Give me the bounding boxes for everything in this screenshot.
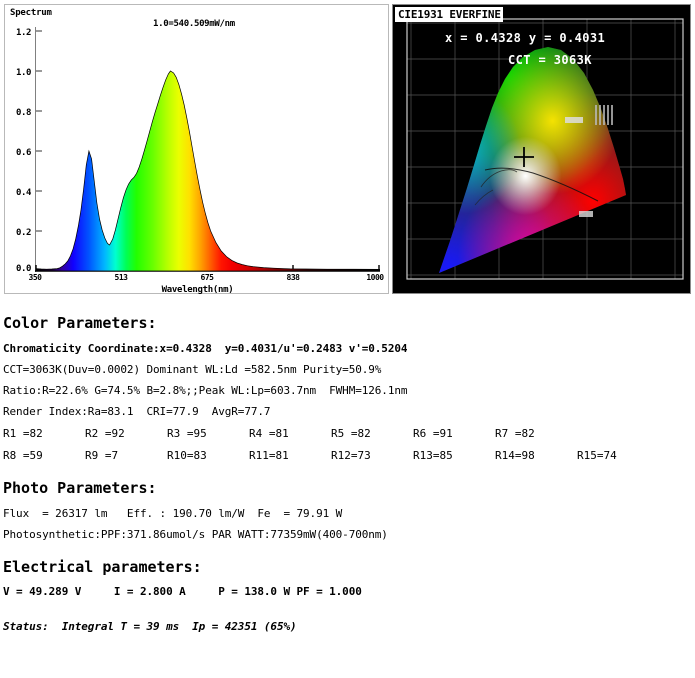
cie-cct-readout: CCT = 3063K (508, 53, 592, 67)
status-line: Status: Integral T = 39 ms Ip = 42351 (6… (0, 620, 695, 633)
spectrum-curve (35, 27, 380, 272)
x-tick-label: 513 (107, 273, 135, 282)
y-axis-ticks (35, 31, 42, 231)
x-tick-label: 350 (21, 273, 49, 282)
ratio-peak-line: Ratio:R=22.6% G=74.5% B=2.8%;;Peak WL:Lp… (0, 384, 695, 397)
x-tick-label: 675 (193, 273, 221, 282)
cri-value: R14=98 (495, 449, 577, 462)
cie1931-chromaticity-panel[interactable]: CIE1931 EVERFINE x = 0.4328 y = 0.4031 C… (392, 4, 691, 294)
cri-value: R5 =82 (331, 427, 413, 440)
cri-value: R4 =81 (249, 427, 331, 440)
chromaticity-coordinate-line: Chromaticity Coordinate:x=0.4328 y=0.403… (0, 342, 695, 355)
cie-diagram (393, 5, 690, 293)
measurement-report: Color Parameters: Chromaticity Coordinat… (0, 300, 695, 633)
cri-value: R15=74 (577, 449, 659, 462)
x-tick-label: 1000 (360, 273, 390, 282)
spectrum-title: Spectrum (10, 8, 52, 18)
y-tick-label: 0.4 (5, 188, 31, 198)
cri-row-1: R1 =82 R2 =92 R3 =95 R4 =81 R5 =82 R6 =9… (0, 427, 695, 440)
cri-row-2: R8 =59 R9 =7 R10=83 R11=81 R12=73 R13=85… (0, 449, 695, 462)
cri-value: R10=83 (167, 449, 249, 462)
y-tick-label: 1.2 (5, 28, 31, 38)
spectral-power-distribution-fill (36, 71, 380, 271)
cri-value: R9 =7 (85, 449, 167, 462)
annotation-block (579, 211, 593, 217)
cri-value: R11=81 (249, 449, 331, 462)
cri-value: R8 =59 (3, 449, 85, 462)
electrical-parameters-heading: Electrical parameters: (0, 558, 695, 576)
cie-title: CIE1931 EVERFINE (395, 7, 503, 22)
y-tick-label: 0.8 (5, 108, 31, 118)
x-axis-title: Wavelength(nm) (5, 285, 390, 295)
cie-xy-readout: x = 0.4328 y = 0.4031 (445, 31, 605, 45)
spectrum-chart-panel[interactable]: Spectrum 1.0=540.509mW/nm 1.2 1.0 0.8 0.… (4, 4, 389, 294)
cct-duv-line: CCT=3063K(Duv=0.0002) Dominant WL:Ld =58… (0, 363, 695, 376)
y-tick-label: 0.6 (5, 148, 31, 158)
annotation-block (565, 117, 583, 123)
cri-value: R13=85 (413, 449, 495, 462)
render-index-line: Render Index:Ra=83.1 CRI=77.9 AvgR=77.7 (0, 405, 695, 418)
color-parameters-heading: Color Parameters: (0, 314, 695, 332)
electrical-values-line: V = 49.289 V I = 2.800 A P = 138.0 W PF … (0, 585, 695, 598)
y-tick-label: 0.2 (5, 228, 31, 238)
photo-parameters-heading: Photo Parameters: (0, 479, 695, 497)
spectrum-plot-area (35, 27, 380, 272)
cri-value: R3 =95 (167, 427, 249, 440)
cri-value: R6 =91 (413, 427, 495, 440)
cri-value: R12=73 (331, 449, 413, 462)
flux-efficacy-line: Flux = 26317 lm Eff. : 190.70 lm/W Fe = … (0, 507, 695, 520)
cri-value: R1 =82 (3, 427, 85, 440)
measurement-graphs-area: Spectrum 1.0=540.509mW/nm 1.2 1.0 0.8 0.… (0, 0, 695, 298)
cri-value: R2 =92 (85, 427, 167, 440)
y-tick-label: 1.0 (5, 68, 31, 78)
photosynthetic-line: Photosynthetic:PPF:371.86umol/s PAR WATT… (0, 528, 695, 541)
x-tick-label: 838 (279, 273, 307, 282)
cri-value: R7 =82 (495, 427, 577, 440)
